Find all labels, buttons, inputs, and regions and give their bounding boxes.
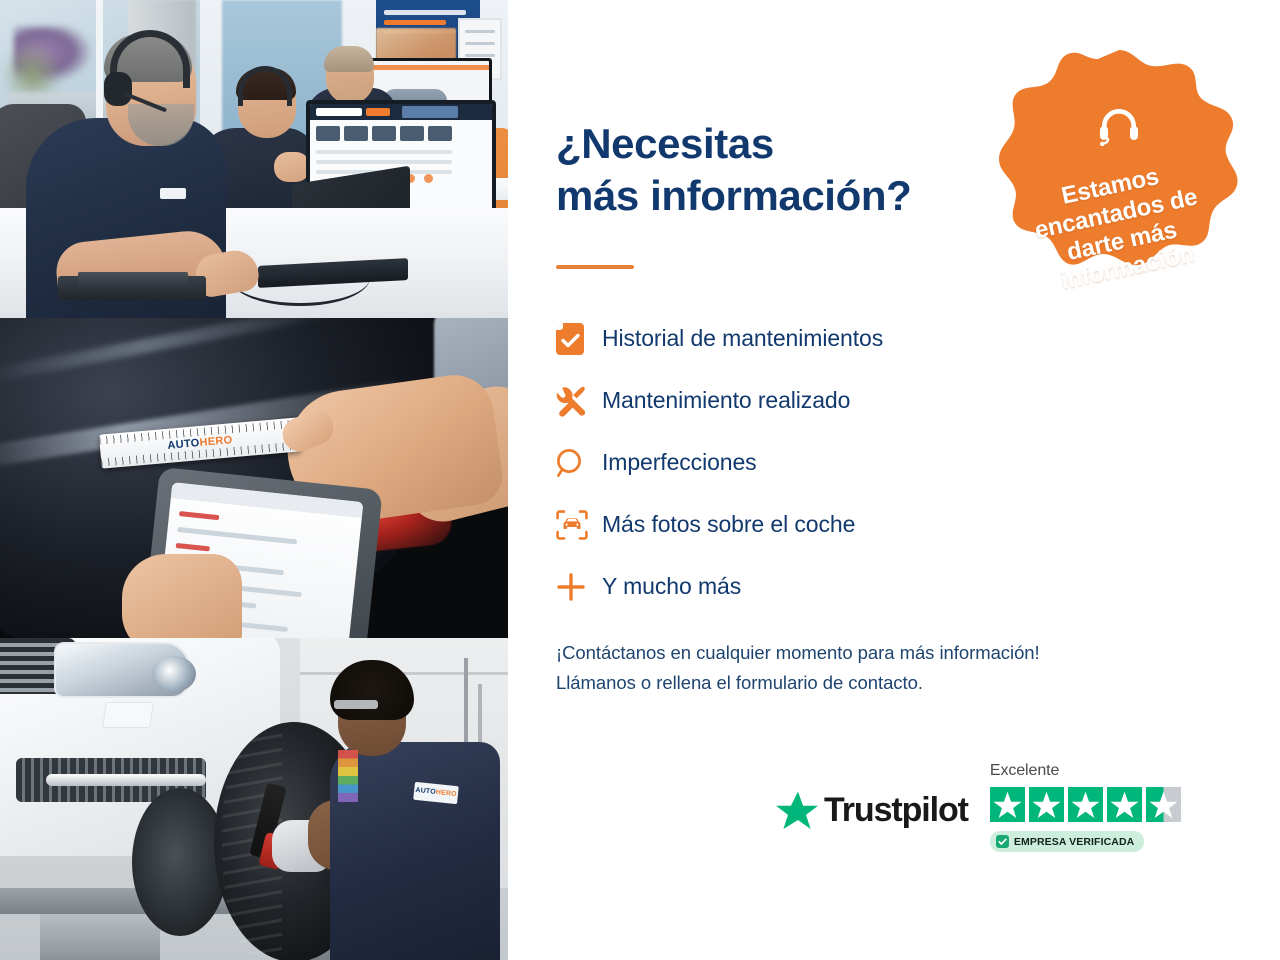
feature-item: Más fotos sobre el coche (556, 494, 1076, 556)
screen-thumb (428, 126, 452, 141)
frame-line (465, 54, 495, 57)
screen-car-thumbnails (316, 126, 452, 141)
feature-label: Imperfecciones (602, 449, 757, 477)
verified-company-label: EMPRESA VERIFICADA (1014, 836, 1134, 848)
info-badge: Estamos encantados de darte más informac… (992, 44, 1246, 304)
title-divider (556, 265, 634, 269)
trustpilot-stars (990, 787, 1181, 822)
trustpilot-score: Excelente (990, 762, 1181, 852)
trustpilot-star-icon (776, 790, 818, 830)
screen-icon-dot (424, 174, 433, 183)
page-title: ¿Necesitas más información? (556, 118, 911, 222)
feature-item: Y mucho más (556, 556, 1076, 618)
headset-earcup (104, 72, 132, 106)
feature-label: Y mucho más (602, 573, 741, 601)
mechanic-tire-change-photo: AUTOHERO (0, 638, 508, 960)
screen-accent-bar (355, 65, 489, 70)
screen-thumb (316, 126, 340, 141)
trustpilot-star-filled (1107, 787, 1142, 822)
screen-hero-image (402, 106, 458, 118)
headline-line-1: ¿Necesitas (556, 120, 774, 167)
license-plate-recess (102, 702, 154, 728)
tablet-screen-row (176, 543, 210, 552)
photo-column: AUTOHERO (0, 0, 508, 960)
feature-label: Más fotos sobre el coche (602, 511, 855, 539)
screen-search-field (316, 108, 362, 116)
screen-row (316, 150, 452, 154)
inspector-second-hand (122, 554, 242, 638)
chrome-trim (46, 774, 206, 786)
agent-2-hand (274, 152, 310, 182)
screen-accent-button (366, 108, 390, 116)
poster-line (384, 10, 466, 15)
feature-item: Imperfecciones (556, 432, 1076, 494)
plus-icon (556, 572, 602, 602)
magnifying-glass-icon (556, 448, 602, 478)
trustpilot-star-filled (1068, 787, 1103, 822)
headset-icon (1097, 106, 1141, 146)
feature-list: Historial de mantenimientos Mantenimient… (556, 308, 1076, 618)
logo-auto: AUTO (415, 787, 436, 796)
verified-check-icon (996, 835, 1009, 848)
feature-label: Historial de mantenimientos (602, 325, 883, 353)
wheel-hub (132, 788, 228, 936)
screen-row (316, 160, 452, 164)
screen-thumb (344, 126, 368, 141)
trustpilot-star-filled (990, 787, 1025, 822)
verified-company-badge: EMPRESA VERIFICADA (990, 831, 1144, 852)
frame-line (465, 30, 495, 33)
car-lift-post (40, 914, 160, 960)
tools-wrench-screwdriver-icon (556, 385, 602, 417)
trustpilot-star-filled (1029, 787, 1064, 822)
tablet-screen-row (179, 511, 219, 520)
screen-thumb (400, 126, 424, 141)
feature-label: Mantenimiento realizado (602, 387, 850, 415)
document-check-icon (556, 323, 602, 355)
car-viewfinder-icon (556, 510, 602, 540)
agent-1-logo-badge (160, 188, 186, 199)
car-headlight (54, 642, 190, 698)
promo-banner: AUTOHERO (0, 0, 1280, 960)
desk-notebook (78, 272, 188, 288)
contact-text: ¡Contáctanos en cualquier momento para m… (556, 638, 1040, 698)
feature-item: Mantenimiento realizado (556, 370, 1076, 432)
trustpilot-rating-label: Excelente (990, 762, 1059, 780)
contact-line-1: ¡Contáctanos en cualquier momento para m… (556, 638, 1040, 668)
content-panel: ¿Necesitas más información? Estamos enca… (508, 0, 1280, 960)
logo-hero: HERO (435, 789, 457, 798)
feature-item: Historial de mantenimientos (556, 308, 1076, 370)
poster-accent-line (384, 20, 446, 25)
headlight-lens (152, 656, 196, 692)
trustpilot-logo: Trustpilot (776, 790, 968, 830)
headline-line-2: más información? (556, 172, 911, 219)
frame-line (465, 42, 495, 45)
wall-color-chart (338, 750, 358, 802)
tablet-screen-row (177, 527, 297, 545)
call-center-agents-photo (0, 0, 508, 318)
safety-glasses (334, 700, 378, 709)
screen-thumb (372, 126, 396, 141)
contact-line-2: Llámanos o rellena el formulario de cont… (556, 668, 1040, 698)
agent-3-hair (324, 46, 374, 72)
screen-navbar (310, 104, 492, 120)
trustpilot-star-half (1146, 787, 1181, 822)
trustpilot-rating: Trustpilot Excelente (776, 762, 1181, 852)
trustpilot-wordmark: Trustpilot (824, 791, 968, 830)
car-inspection-ruler-photo: AUTOHERO (0, 318, 508, 638)
